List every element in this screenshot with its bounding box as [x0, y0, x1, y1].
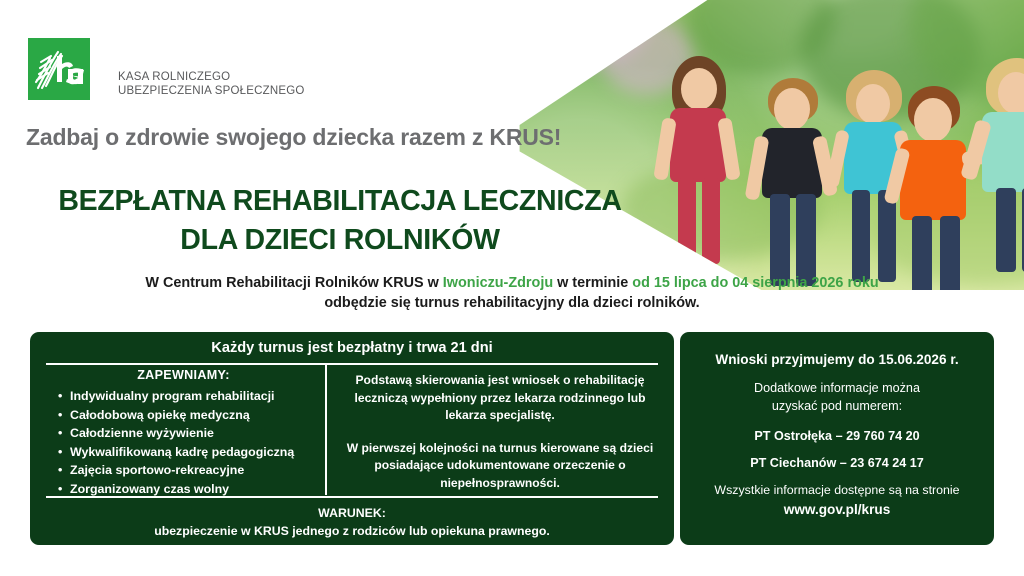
list-item: Wykwalifikowaną kadrę pedagogiczną [58, 443, 321, 462]
intro-place: Iwoniczu-Zdroju [443, 275, 553, 291]
institution-line-2: UBEZPIECZENIA SPOŁECZNEGO [118, 85, 304, 97]
divider-vertical [325, 365, 327, 495]
list-item: Całodzienne wyżywienie [58, 424, 321, 443]
website-intro: Wszystkie informacje dostępne są na stro… [680, 480, 994, 500]
intro-part-1: W Centrum Rehabilitacji Rolników KRUS w [145, 275, 442, 291]
website-block: Wszystkie informacje dostępne są na stro… [680, 480, 994, 520]
intro-line-1: W Centrum Rehabilitacji Rolników KRUS w … [0, 273, 1024, 293]
requirements-paragraph-1: Podstawą skierowania jest wniosek o reha… [335, 372, 665, 425]
divider-top [46, 363, 658, 365]
paragraph-spacer [335, 425, 665, 440]
website-url[interactable]: www.gov.pl/krus [680, 500, 994, 520]
headline-line-2: DLA DZIECI ROLNIKÓW [0, 224, 680, 257]
additional-info-line-2: uzyskać pod numerem: [680, 397, 994, 415]
divider-bottom [46, 496, 658, 498]
intro-dates: od 15 lipca do 04 sierpnia 2026 roku [632, 275, 878, 291]
additional-info: Dodatkowe informacje można uzyskać pod n… [680, 379, 994, 415]
details-panel: Każdy turnus jest bezpłatny i trwa 21 dn… [30, 332, 674, 545]
list-item: Całodobową opiekę medyczną [58, 406, 321, 425]
intro-part-2: w terminie [553, 275, 632, 291]
additional-info-line-1: Dodatkowe informacje można [680, 379, 994, 397]
intro-paragraph: W Centrum Rehabilitacji Rolników KRUS w … [0, 273, 1024, 313]
condition-block: WARUNEK: ubezpieczenie w KRUS jednego z … [30, 504, 674, 540]
krus-wheat-logo-icon [28, 38, 90, 100]
headline-line-1: BEZPŁATNA REHABILITACJA LECZNICZA [0, 185, 680, 218]
requirements-paragraph-2: W pierwszej kolejności na turnus kierowa… [335, 440, 665, 493]
list-item: Zajęcia sportowo-rekreacyjne [58, 461, 321, 480]
institution-name: KASA ROLNICZEGOUBEZPIECZENIA SPOŁECZNEGO [118, 70, 304, 98]
requirements-column: Podstawą skierowania jest wniosek o reha… [335, 372, 665, 492]
contact-ciechanow: PT Ciechanów – 23 674 24 17 [680, 450, 994, 477]
panel-title: Każdy turnus jest bezpłatny i trwa 21 dn… [30, 340, 674, 356]
condition-text: ubezpieczenie w KRUS jednego z rodziców … [30, 522, 674, 540]
benefits-heading: ZAPEWNIAMY: [46, 368, 321, 382]
benefits-list: Indywidualny program rehabilitacji Całod… [46, 387, 321, 498]
intro-line-2: odbędzie się turnus rehabilitacyjny dla … [0, 293, 1024, 313]
list-item: Indywidualny program rehabilitacji [58, 387, 321, 406]
condition-heading: WARUNEK: [30, 504, 674, 522]
contact-panel: Wnioski przyjmujemy do 15.06.2026 r. Dod… [680, 332, 994, 545]
contact-list: PT Ostrołęka – 29 760 74 20 PT Ciechanów… [680, 423, 994, 477]
deadline-text: Wnioski przyjmujemy do 15.06.2026 r. [680, 352, 994, 367]
contact-ostroleka: PT Ostrołęka – 29 760 74 20 [680, 423, 994, 450]
poster-canvas: KASA ROLNICZEGOUBEZPIECZENIA SPOŁECZNEGO… [0, 0, 1024, 576]
benefits-column: ZAPEWNIAMY: Indywidualny program rehabil… [46, 368, 321, 498]
institution-line-1: KASA ROLNICZEGO [118, 71, 230, 83]
tagline: Zadbaj o zdrowie swojego dziecka razem z… [26, 124, 561, 151]
child-figure [970, 58, 1024, 278]
